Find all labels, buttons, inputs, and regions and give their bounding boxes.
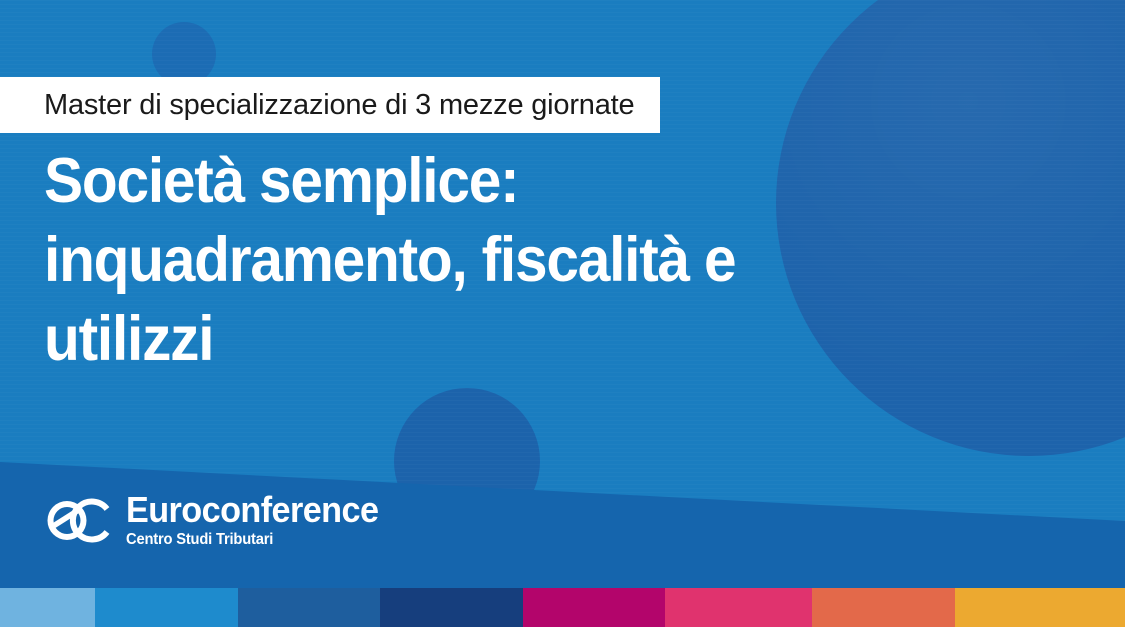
stripe-band-amber (955, 588, 1125, 627)
stripe-band-blue (95, 588, 238, 627)
euroconference-logo: Euroconference Centro Studi Tributari (45, 491, 392, 549)
stripe-band-orange (812, 588, 955, 627)
logo-text-block: Euroconference Centro Studi Tributari (126, 491, 392, 549)
ec-monogram-icon (45, 494, 113, 547)
eyebrow-text: Master di specializzazione di 3 mezze gi… (44, 89, 634, 122)
logo-name: Euroconference (126, 491, 378, 529)
stripe-band-magenta (523, 588, 665, 627)
eyebrow-banner: Master di specializzazione di 3 mezze gi… (0, 77, 660, 133)
stripe-band-pink (665, 588, 812, 627)
logo-tagline: Centro Studi Tributari (126, 531, 378, 549)
page-title: Società semplice: inquadramento, fiscali… (44, 142, 881, 379)
stripe-band-light-blue (0, 588, 95, 627)
stripe-band-navy (380, 588, 523, 627)
color-stripe (0, 588, 1125, 627)
stripe-band-medium-blue (238, 588, 380, 627)
promotional-banner: Master di specializzazione di 3 mezze gi… (0, 0, 1125, 627)
